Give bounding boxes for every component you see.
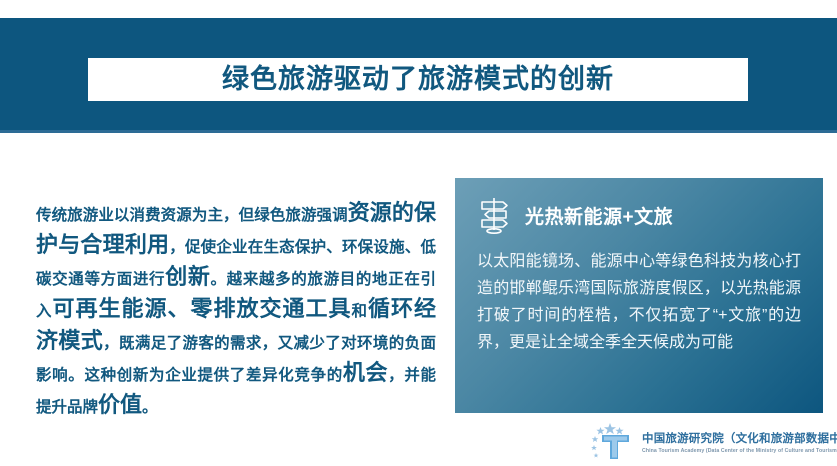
title-box: 绿色旅游驱动了旅游模式的创新 <box>88 58 748 101</box>
emphasis-text: 机会 <box>343 360 388 385</box>
highlight-panel-header: 光热新能源+文旅 <box>477 196 801 234</box>
body-text: 传统旅游业以消费资源为主，但绿色旅游强调 <box>36 207 348 224</box>
emphasis-text: 价值 <box>98 392 142 417</box>
page-title: 绿色旅游驱动了旅游模式的创新 <box>222 66 614 93</box>
left-paragraph: 传统旅游业以消费资源为主，但绿色旅游强调资源的保护与合理利用，促使企业在生态保护… <box>36 198 436 422</box>
highlight-panel: 光热新能源+文旅 以太阳能镜场、能源中心等绿色科技为核心打造的邯郸鲲乐湾国际旅游… <box>455 178 823 413</box>
emphasis-text: 可再生能源、零排放交通工具 <box>53 296 352 321</box>
footer-logo-text: 中国旅游研究院（文化和旅游部数据中心） China Tourism Academ… <box>642 430 837 454</box>
footer-logo-name-cn: 中国旅游研究院（文化和旅游部数据中心） <box>642 430 837 446</box>
left-text-column: 传统旅游业以消费资源为主，但绿色旅游强调资源的保护与合理利用，促使企业在生态保护… <box>36 198 436 422</box>
footer-logo-name-en: China Tourism Academy (Data Center of th… <box>642 448 837 454</box>
header-underline-rule <box>0 130 837 133</box>
body-text: 。 <box>142 399 158 416</box>
slide-root: 绿色旅游驱动了旅游模式的创新 传统旅游业以消费资源为主，但绿色旅游强调资源的保护… <box>0 0 837 466</box>
footer-logo: 中国旅游研究院（文化和旅游部数据中心） China Tourism Academ… <box>588 422 837 462</box>
china-tourism-academy-logo <box>588 422 634 462</box>
emphasis-text: 创新 <box>165 264 210 289</box>
body-text: 和 <box>351 303 368 320</box>
highlight-panel-body: 以太阳能镜场、能源中心等绿色科技为核心打造的邯郸鲲乐湾国际旅游度假区，以光热能源… <box>477 248 801 356</box>
highlight-panel-heading: 光热新能源+文旅 <box>525 202 673 229</box>
signpost-icon <box>477 196 511 234</box>
